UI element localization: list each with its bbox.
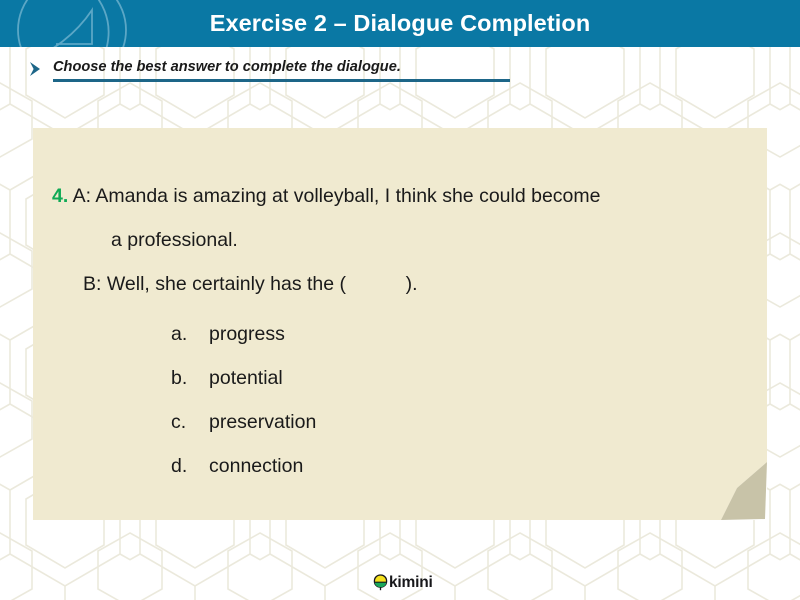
question-number: 4. [52, 185, 68, 207]
instruction-text: Choose the best answer to complete the d… [53, 58, 510, 76]
kimini-balloon-icon [373, 574, 388, 591]
question-line-a-first: 4. A: Amanda is amazing at volleyball, I… [33, 174, 767, 218]
kimini-wordmark: kimini [389, 574, 433, 591]
option-letter-b: b. [171, 356, 209, 400]
instruction-underline [53, 79, 510, 82]
option-letter-c: c. [171, 400, 209, 444]
question-card: 4. A: Amanda is amazing at volleyball, I… [33, 128, 767, 520]
option-text-b: potential [209, 356, 283, 400]
option-letter-d: d. [171, 444, 209, 488]
header-bar: Exercise 2 – Dialogue Completion [0, 0, 800, 47]
option-row-a[interactable]: a. progress [171, 312, 767, 356]
question-line-b: B: Well, she certainly has the ( ). [33, 262, 767, 306]
option-row-b[interactable]: b. potential [171, 356, 767, 400]
kimini-logo: kimini [373, 574, 433, 591]
slide-canvas: Exercise 2 – Dialogue Completion Choose … [0, 0, 800, 600]
option-row-c[interactable]: c. preservation [171, 400, 767, 444]
instruction-text-wrap: Choose the best answer to complete the d… [53, 58, 510, 82]
option-text-d: connection [209, 444, 303, 488]
options-list: a. progress b. potential c. preservation… [33, 312, 767, 488]
question-line-a-first-text: A: Amanda is amazing at volleyball, I th… [73, 185, 601, 207]
page-title: Exercise 2 – Dialogue Completion [0, 0, 800, 47]
question-line-a-second: a professional. [33, 218, 767, 262]
option-text-a: progress [209, 312, 285, 356]
option-letter-a: a. [171, 312, 209, 356]
option-row-d[interactable]: d. connection [171, 444, 767, 488]
instruction-row: Choose the best answer to complete the d… [28, 58, 510, 82]
chevron-right-icon [28, 60, 44, 78]
option-text-c: preservation [209, 400, 316, 444]
question-block: 4. A: Amanda is amazing at volleyball, I… [33, 128, 767, 488]
